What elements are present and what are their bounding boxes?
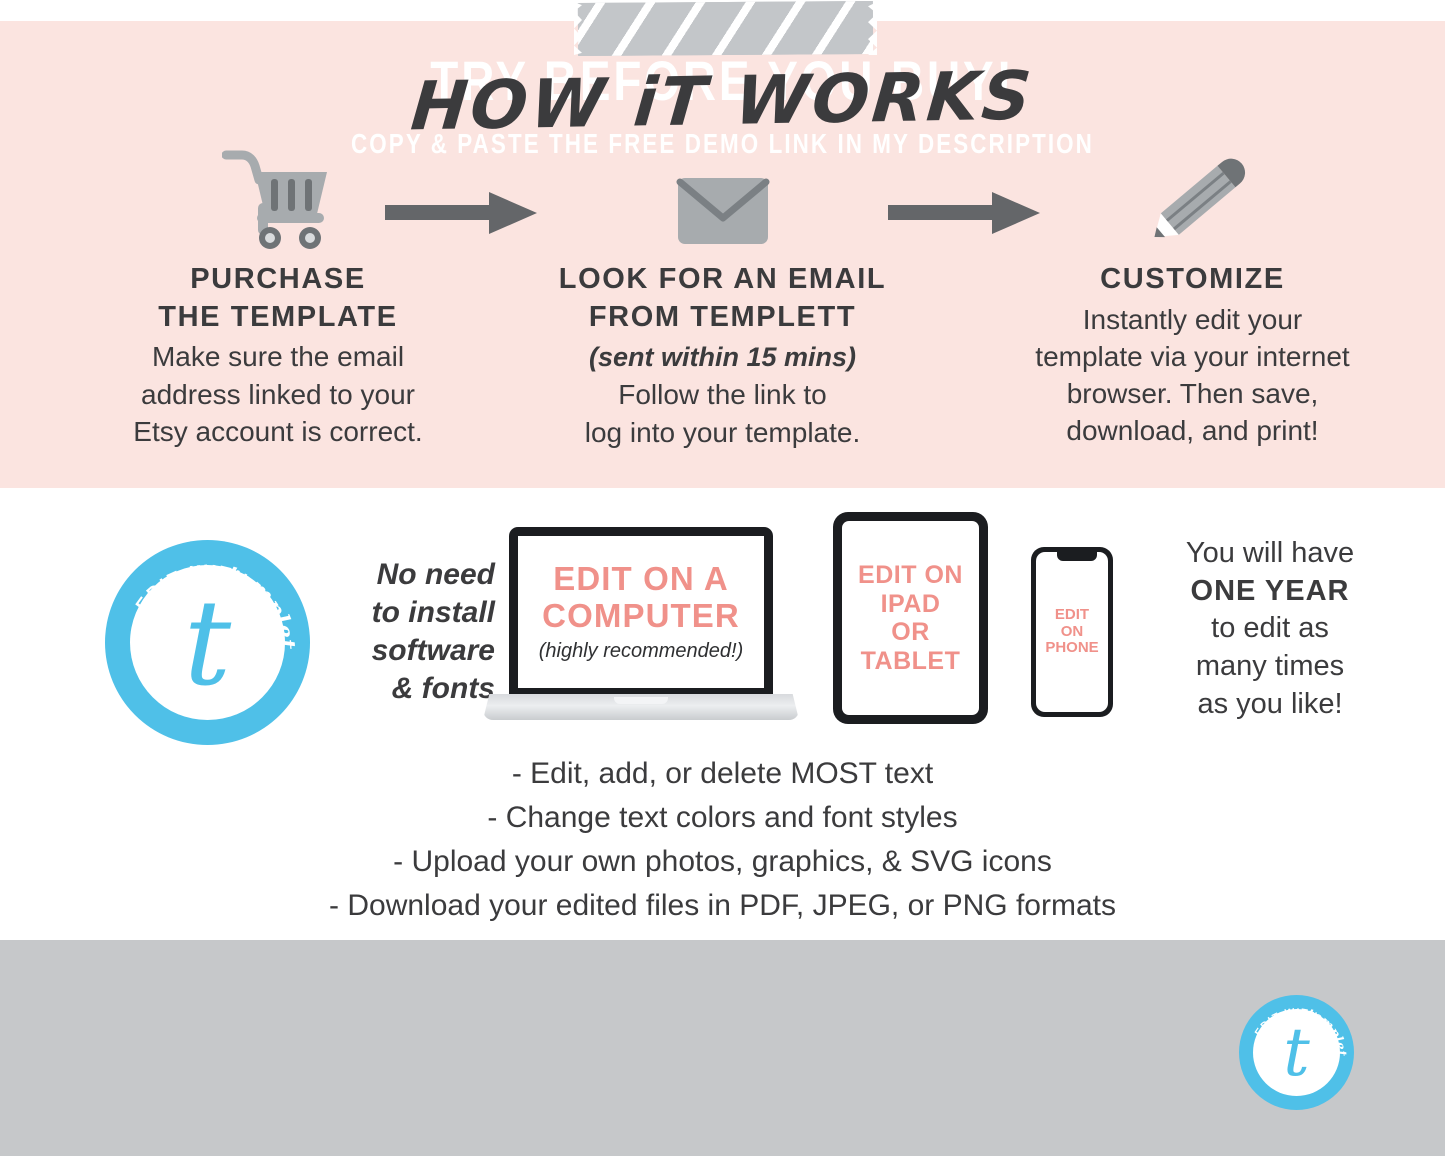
step-email-heading: LOOK FOR AN EMAIL FROM TEMPLETT [500,261,945,336]
infographic-page: HOW iT WORKS PURC [0,0,1445,1156]
laptop-mockup: EDIT ON A COMPUTER (highly recommended!) [483,527,799,727]
step-email-body: (sent within 15 mins) Follow the link to… [500,338,945,450]
no-need-to-install-text: No need to install software & fonts [320,556,495,708]
laptop-screen: EDIT ON A COMPUTER (highly recommended!) [518,536,764,688]
phone-text-line1: EDIT [1055,606,1089,623]
step-purchase-body-line3: Etsy account is correct. [133,416,422,447]
list-item: - Download your edited files in PDF, JPE… [0,884,1445,928]
step-customize-heading: CUSTOMIZE [965,261,1420,299]
templett-badge-large: EDIT WITH templett EDITABLE TEMPLATE t [105,540,310,745]
washi-tape-graphic [578,1,873,56]
step-customize-body-line2: template via your internet [1035,341,1349,372]
no-need-line3: software [372,634,495,667]
steps-row: PURCHASE THE TEMPLATE Make sure the emai… [0,140,1445,470]
laptop-trackpad-notch [614,697,668,704]
arrow-right-icon-2 [888,192,1040,234]
step-customize: CUSTOMIZE Instantly edit your template v… [965,140,1420,450]
step-purchase-heading-line2: THE TEMPLATE [158,301,397,333]
no-need-line2: to install [372,596,495,629]
tablet-mockup: EDIT ON IPAD OR TABLET [833,512,988,724]
step-customize-body: Instantly edit your template via your in… [965,301,1420,450]
step-purchase: PURCHASE THE TEMPLATE Make sure the emai… [58,140,498,450]
no-need-line1: No need [377,558,495,591]
badge-small-letter-t: t [1239,995,1354,1110]
step-email-body-line2: log into your template. [585,417,861,448]
step-email-heading-line1: LOOK FOR AN EMAIL [559,263,886,295]
no-need-line4: & fonts [392,672,495,705]
phone-screen: EDIT ON PHONE [1036,552,1108,712]
tablet-text-line2: IPAD [881,590,941,618]
try-before-you-buy-footer [0,940,1445,1156]
step-purchase-heading-line1: PURCHASE [190,263,366,295]
laptop-text-line2: COMPUTER [542,597,740,634]
arrow-right-icon-1 [385,192,537,234]
one-year-line1: You will have [1186,537,1354,569]
one-year-line4: many times [1196,650,1344,682]
phone-notch [1057,552,1097,561]
step-customize-body-line4: download, and print! [1066,415,1318,446]
step-email-heading-line2: FROM TEMPLETT [589,301,856,333]
templett-badge-small: EDIT WITH templett EDITABLE TEMPLATE t [1239,995,1354,1110]
step-email-body-line1: Follow the link to [618,379,827,410]
step-email: LOOK FOR AN EMAIL FROM TEMPLETT (sent wi… [500,140,945,451]
step-purchase-body: Make sure the email address linked to yo… [58,338,498,450]
step-customize-body-line1: Instantly edit your [1083,304,1302,335]
list-item: - Upload your own photos, graphics, & SV… [0,840,1445,884]
one-year-line5: as you like! [1197,688,1342,720]
one-year-highlight: ONE YEAR [1191,575,1350,607]
step-email-italic-note: (sent within 15 mins) [589,342,856,372]
laptop-lid: EDIT ON A COMPUTER (highly recommended!) [509,527,773,697]
one-year-text: You will have ONE YEAR to edit as many t… [1125,535,1415,723]
laptop-text-line1: EDIT ON A [553,560,729,597]
laptop-subtext: (highly recommended!) [539,640,744,663]
tablet-body: EDIT ON IPAD OR TABLET [833,512,988,724]
tablet-screen: EDIT ON IPAD OR TABLET [842,521,979,715]
list-item: - Change text colors and font styles [0,796,1445,840]
tablet-text-line1: EDIT ON [858,561,963,589]
one-year-line3: to edit as [1211,612,1329,644]
step-purchase-body-line2: address linked to your [141,379,415,410]
step-purchase-body-line1: Make sure the email [152,341,404,372]
step-purchase-heading: PURCHASE THE TEMPLATE [58,261,498,336]
phone-mockup: EDIT ON PHONE [1031,547,1113,717]
phone-body: EDIT ON PHONE [1031,547,1113,717]
tablet-text-line4: TABLET [861,647,961,675]
tablet-text-line3: OR [891,618,930,646]
phone-text-line3: PHONE [1045,639,1098,656]
feature-bullet-list: - Edit, add, or delete MOST text - Chang… [0,752,1445,928]
step-customize-body-line3: browser. Then save, [1067,378,1319,409]
phone-text-line2: ON [1061,623,1084,640]
badge-letter-t: t [105,540,310,745]
list-item: - Edit, add, or delete MOST text [0,752,1445,796]
